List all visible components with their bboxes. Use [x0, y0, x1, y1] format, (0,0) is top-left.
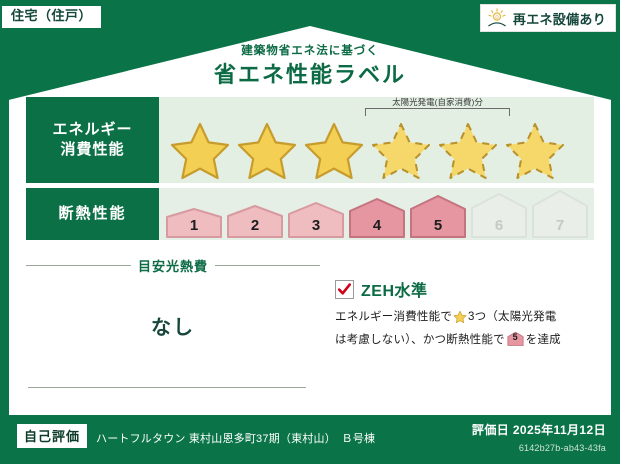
zeh-desc-part3: を達成 — [526, 334, 561, 346]
title-subtitle: 建築物省エネ法に基づく — [0, 42, 620, 58]
energy-performance-body: 太陽光発電(自家消費)分 — [159, 97, 594, 183]
star-filled-3 — [301, 119, 367, 179]
insulation-level-7: 7 — [531, 190, 589, 238]
star-filled-2 — [234, 119, 300, 179]
insulation-level-1: 1 — [165, 208, 223, 238]
utility-cost-heading-label: 目安光熱費 — [138, 256, 208, 275]
page-title: 省エネ性能ラベル — [0, 57, 620, 89]
zeh-block: ZEH水準 エネルギー消費性能で 3つ（太陽光発電 は考慮しない）、かつ断熱性能… — [320, 250, 594, 400]
energy-label-line1: エネルギー — [52, 121, 132, 138]
check-icon — [337, 282, 352, 297]
self-evaluation-badge: 自己評価 — [17, 424, 87, 448]
insulation-level-5-value: 5 — [409, 217, 467, 234]
zeh-desc-part2: は考慮しない）、かつ断熱性能で — [335, 334, 505, 346]
insulation-performance-body: 1 2 3 4 — [159, 188, 594, 240]
property-name: ハートフルタウン 東村山恩多町37期（東村山） Ｂ号棟 — [96, 430, 375, 446]
insulation-level-scale: 1 2 3 4 — [165, 190, 589, 238]
insulation-level-3-value: 3 — [287, 217, 345, 234]
zeh-description: エネルギー消費性能で 3つ（太陽光発電 は考慮しない）、かつ断熱性能で 5 を達… — [335, 308, 594, 351]
energy-performance-row: エネルギー 消費性能 太陽光発電(自家消費)分 — [26, 97, 594, 183]
solar-note-caption: 太陽光発電(自家消費)分 — [365, 98, 510, 107]
insulation-level-7-value: 7 — [531, 217, 589, 234]
utility-cost-value: なし — [26, 311, 320, 340]
utility-cost-block: 目安光熱費 なし — [26, 250, 320, 400]
insulation-performance-row: 断熱性能 1 2 3 — [26, 188, 594, 240]
lower-section: 目安光熱費 なし ZEH水準 エネルギー消費性能で 3つ（太陽光発電 は考慮しな… — [26, 250, 594, 400]
star-rating — [167, 119, 568, 179]
star-solar-4 — [368, 119, 434, 179]
insulation-level-4: 4 — [348, 198, 406, 238]
evaluation-date: 評価日 2025年11月12日 — [472, 421, 606, 438]
cost-rule-right — [215, 265, 320, 266]
cost-rule-left — [26, 265, 131, 266]
solar-bracket — [365, 108, 510, 116]
renewable-equipment-badge: D 再エネ設備あり — [480, 4, 616, 32]
insulation-level-6-value: 6 — [470, 217, 528, 234]
zeh-desc-part1: エネルギー消費性能で — [335, 311, 452, 323]
sun-solar-icon: D — [486, 8, 508, 28]
evaluation-id: 6142b27b-ab43-43fa — [519, 443, 606, 453]
zeh-checkbox[interactable] — [335, 280, 354, 299]
star-solar-5 — [435, 119, 501, 179]
inline-insulation-level-value: 5 — [507, 330, 524, 345]
footer: 自己評価 ハートフルタウン 東村山恩多町37期（東村山） Ｂ号棟 評価日 202… — [0, 416, 620, 464]
insulation-performance-label: 断熱性能 — [26, 188, 159, 240]
svg-text:D: D — [495, 15, 499, 20]
zeh-title: ZEH水準 — [361, 277, 428, 301]
zeh-heading: ZEH水準 — [335, 277, 594, 301]
insulation-level-3: 3 — [287, 202, 345, 238]
utility-cost-heading: 目安光熱費 — [26, 256, 320, 275]
solar-portion-annotation: 太陽光発電(自家消費)分 — [365, 98, 510, 116]
insulation-level-2: 2 — [226, 205, 284, 238]
insulation-level-6: 6 — [470, 193, 528, 238]
insulation-level-1-value: 1 — [165, 217, 223, 234]
zeh-desc-star-count: 3つ（太陽光発電 — [468, 311, 557, 323]
insulation-level-5: 5 — [409, 195, 467, 238]
star-solar-6 — [502, 119, 568, 179]
renewable-badge-label: 再エネ設備あり — [513, 9, 606, 28]
inline-star-icon — [453, 310, 467, 331]
label-root: 住宅（住戸） D 再エネ設備あり 建築物省エネ法に基づく 省エネ性能ラベル — [0, 0, 620, 464]
insulation-level-2-value: 2 — [226, 217, 284, 234]
star-filled-1 — [167, 119, 233, 179]
energy-performance-label: エネルギー 消費性能 — [26, 97, 159, 183]
performance-panel: エネルギー 消費性能 太陽光発電(自家消費)分 — [26, 97, 594, 240]
cost-bottom-rule — [28, 387, 306, 388]
inline-insulation-level-icon: 5 — [507, 331, 524, 347]
energy-label-line2: 消費性能 — [60, 141, 124, 158]
dwelling-type-tag: 住宅（住戸） — [2, 6, 101, 28]
insulation-level-4-value: 4 — [348, 217, 406, 234]
